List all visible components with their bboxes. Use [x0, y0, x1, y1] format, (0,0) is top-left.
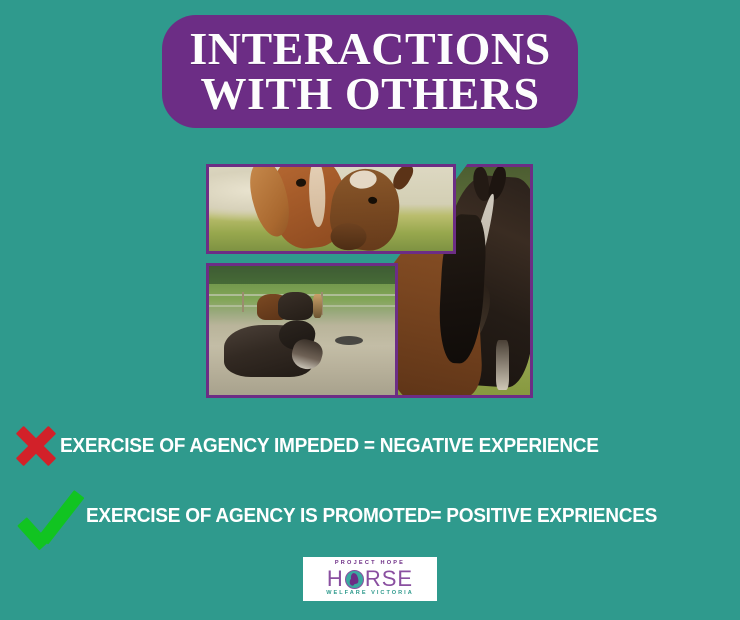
- person-figure: [313, 294, 322, 317]
- photo-top-content: [209, 167, 453, 251]
- organisation-logo: PROJECT HOPE H RSE WELFARE VICTORIA: [303, 557, 437, 601]
- grazing-pony-black: [278, 292, 313, 320]
- statement-positive: EXERCISE OF AGENCY IS PROMOTED= POSITIVE…: [16, 485, 732, 547]
- chestnut-horse-blaze: [308, 164, 326, 226]
- logo-letter-h: H: [327, 568, 344, 590]
- photo-ponies-in-paddock: [206, 263, 398, 398]
- horse-leg-sock: [496, 340, 510, 390]
- horse-head-icon: [345, 570, 364, 589]
- chestnut-horse-eye: [296, 178, 306, 186]
- logo-horse-head-shape: [350, 572, 359, 584]
- paddock-tree-line: [209, 266, 395, 284]
- statement-positive-text: EXERCISE OF AGENCY IS PROMOTED= POSITIVE…: [86, 504, 657, 528]
- bay-horse-blaze: [349, 169, 378, 189]
- green-check-icon: [16, 488, 86, 544]
- title-banner: INTERACTIONS WITH OTHERS: [162, 15, 578, 128]
- title-line-1: INTERACTIONS: [189, 27, 550, 72]
- logo-bottom-text: WELFARE VICTORIA: [326, 591, 414, 597]
- photo-two-chestnut-horse-heads: [206, 164, 456, 254]
- photo-bottom-left-content: [209, 266, 395, 395]
- poster-canvas: INTERACTIONS WITH OTHERS: [0, 0, 740, 620]
- title-line-2: WITH OTHERS: [200, 72, 539, 117]
- shetland-pony-foreground: [224, 325, 313, 377]
- logo-wordmark: H RSE: [327, 568, 413, 590]
- fence-post-1: [242, 292, 244, 313]
- check-stroke-long: [38, 490, 85, 544]
- statement-negative-text: EXERCISE OF AGENCY IMPEDED = NEGATIVE EX…: [60, 434, 599, 458]
- photo-collage: [201, 158, 538, 404]
- statement-negative: EXERCISE OF AGENCY IMPEDED = NEGATIVE EX…: [12, 415, 728, 477]
- paddock-tyre: [335, 336, 363, 345]
- logo-letters-rse: RSE: [365, 568, 413, 590]
- red-cross-icon: [12, 422, 60, 470]
- bay-horse-eye: [367, 196, 377, 204]
